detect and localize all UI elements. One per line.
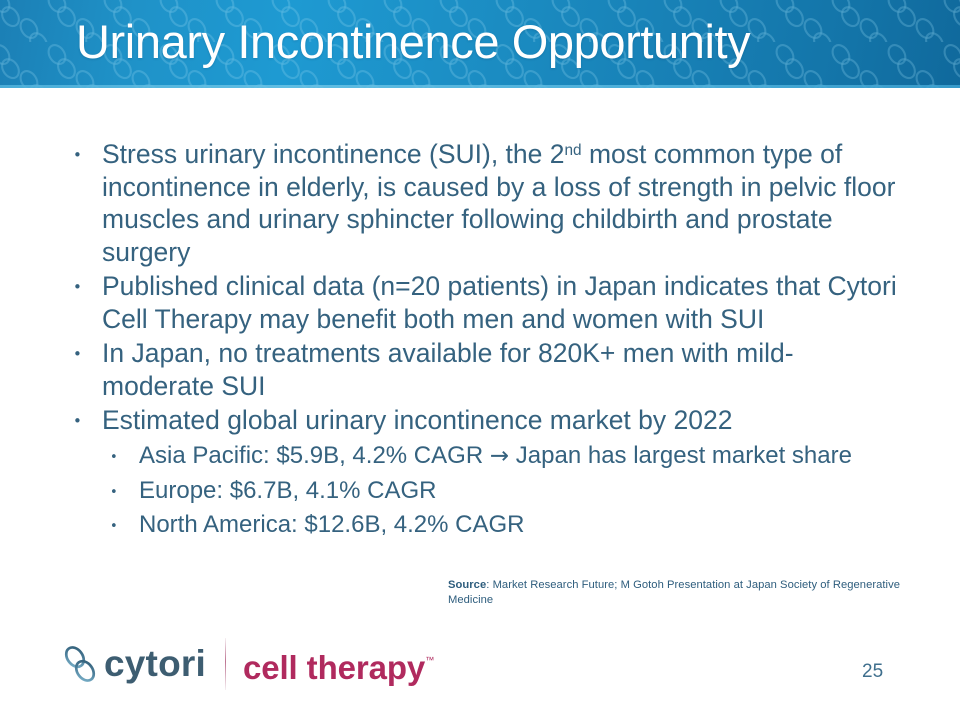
sub-bullet-text-part: Japan has largest market share	[509, 442, 852, 469]
bullet-glyph: •	[73, 414, 82, 429]
source-note: Source: Market Research Future; M Gotoh …	[448, 578, 918, 608]
sub-bullet-item: • Asia Pacific: $5.9B, 4.2% CAGR → Japan…	[60, 439, 900, 473]
logo-divider	[225, 638, 226, 690]
slide: Urinary Incontinence Opportunity • Stres…	[0, 0, 960, 720]
slide-header-banner: Urinary Incontinence Opportunity	[0, 0, 960, 88]
page-title: Urinary Incontinence Opportunity	[76, 9, 750, 75]
logo-tagline-text: cell therapy	[243, 649, 425, 686]
trademark-symbol: ™	[425, 655, 434, 665]
right-arrow-icon: →	[490, 443, 509, 469]
sub-bullet-text-part: Asia Pacific: $5.9B, 4.2% CAGR	[139, 442, 490, 469]
logo-wordmark: cytori	[104, 642, 206, 686]
bullet-glyph: •	[110, 520, 118, 533]
sub-bullet-text: Europe: $6.7B, 4.1% CAGR	[139, 477, 437, 504]
sub-bullet-item: • Europe: $6.7B, 4.1% CAGR	[60, 474, 900, 507]
sub-bullet-text: Asia Pacific: $5.9B, 4.2% CAGR → Japan h…	[139, 442, 852, 469]
page-number: 25	[862, 660, 883, 684]
bullet-text: In Japan, no treatments available for 82…	[102, 338, 794, 401]
ordinal-suffix: nd	[564, 142, 581, 159]
bullet-glyph: •	[110, 486, 118, 499]
bullet-item: • Stress urinary incontinence (SUI), the…	[60, 138, 900, 268]
cytori-logo: cytori cell therapy™	[58, 636, 434, 692]
bullet-text: Stress urinary incontinence (SUI), the 2…	[102, 139, 895, 267]
interlocking-loops-icon	[58, 642, 102, 686]
bullet-item: • In Japan, no treatments available for …	[60, 337, 900, 402]
bullet-glyph: •	[73, 347, 82, 362]
source-text: Market Research Future; M Gotoh Presenta…	[448, 579, 900, 606]
logo-tagline: cell therapy™	[243, 638, 434, 690]
bullet-text-part: Stress urinary incontinence (SUI), the 2	[102, 139, 564, 169]
bullet-item: • Published clinical data (n=20 patients…	[60, 270, 900, 335]
bullet-item: • Estimated global urinary incontinence …	[60, 404, 900, 437]
bullet-glyph: •	[110, 451, 118, 464]
bullet-text: Published clinical data (n=20 patients) …	[102, 271, 897, 334]
sub-bullet-text: North America: $12.6B, 4.2% CAGR	[139, 511, 525, 538]
header-bottom-edge	[0, 85, 960, 88]
source-label: Source	[448, 579, 486, 591]
slide-body: • Stress urinary incontinence (SUI), the…	[60, 138, 900, 542]
sub-bullet-item: • North America: $12.6B, 4.2% CAGR	[60, 508, 900, 541]
bullet-text: Estimated global urinary incontinence ma…	[102, 405, 732, 435]
bullet-glyph: •	[73, 280, 82, 295]
bullet-glyph: •	[73, 148, 82, 163]
